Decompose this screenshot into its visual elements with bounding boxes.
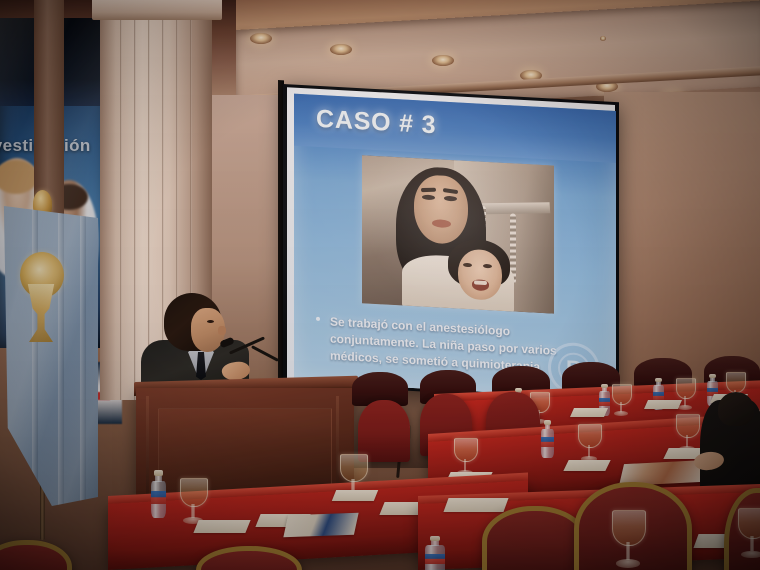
wine-glass [676,414,698,452]
ceiling-downlight-icon [250,33,272,44]
paper-napkin [563,460,610,471]
paper-napkin [644,400,682,409]
ceiling-downlight-icon [432,55,454,66]
conference-folder [283,513,358,537]
conference-room-photo: nvestigación MEJOR nmtive CASO # 3 [0,0,760,570]
wine-glass [612,384,630,416]
column-capital [92,0,222,20]
wine-glass [612,510,644,568]
speaker-nose [218,326,226,335]
speaker-eye [207,320,214,323]
wine-glass [578,424,600,462]
ceiling-smoke-detector-icon [600,36,606,41]
water-bottle [150,470,167,518]
slide-photograph [362,155,554,313]
paper-napkin [193,520,250,533]
wine-glass [738,508,760,558]
ceiling-downlight-icon [330,44,352,55]
water-bottle [540,420,555,458]
paper-napkin [570,408,608,417]
chair-middle-1 [358,400,410,462]
presentation-slide: CASO # 3 [294,94,616,399]
projection-screen: CASO # 3 [283,84,619,402]
bullet-dot-icon [316,317,320,321]
wine-glass [454,438,476,476]
banquet-chair-front-1 [482,506,588,570]
paper-napkin [443,498,508,512]
paper-napkin [332,490,378,501]
wine-glass [180,478,206,524]
screen-surface: CASO # 3 [287,87,615,399]
seated-attendee-head [718,392,754,426]
water-bottle [424,536,446,570]
